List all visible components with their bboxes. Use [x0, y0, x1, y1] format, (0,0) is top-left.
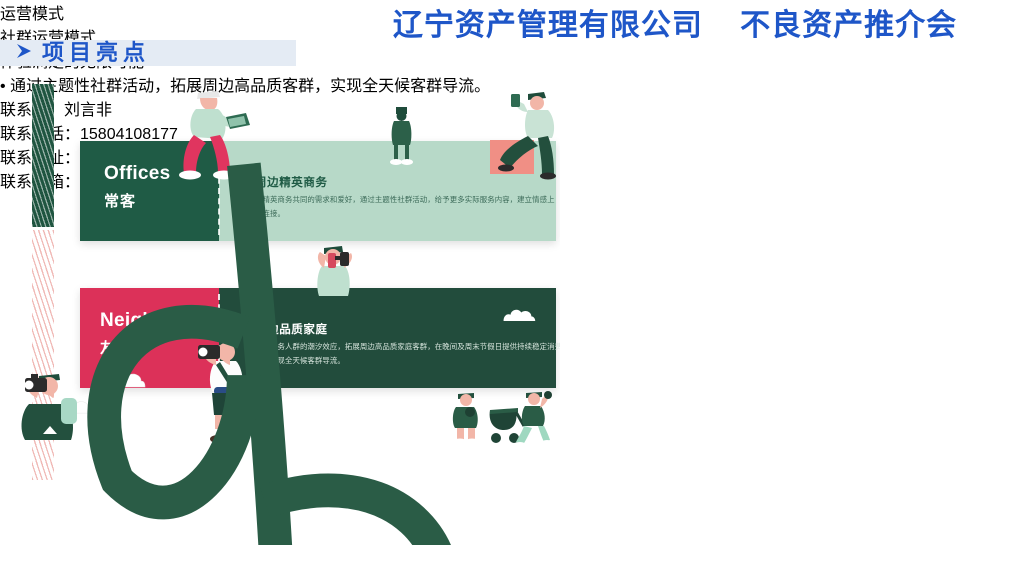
leaf-sprig-icon: [12, 80, 560, 545]
page-title: 辽宁资产管理有限公司 不良资产推介会: [330, 6, 1020, 46]
triangle-right-arrow-icon: [14, 41, 34, 61]
section-label-text: 项目亮点: [42, 35, 150, 67]
highlight-illustration: Offices 常客 周边精英商务 以精英商务共同的需求和爱好，通过主题性社群活…: [12, 80, 560, 545]
bullet-marker: •: [0, 78, 6, 95]
section-label: 项目亮点: [14, 36, 150, 66]
